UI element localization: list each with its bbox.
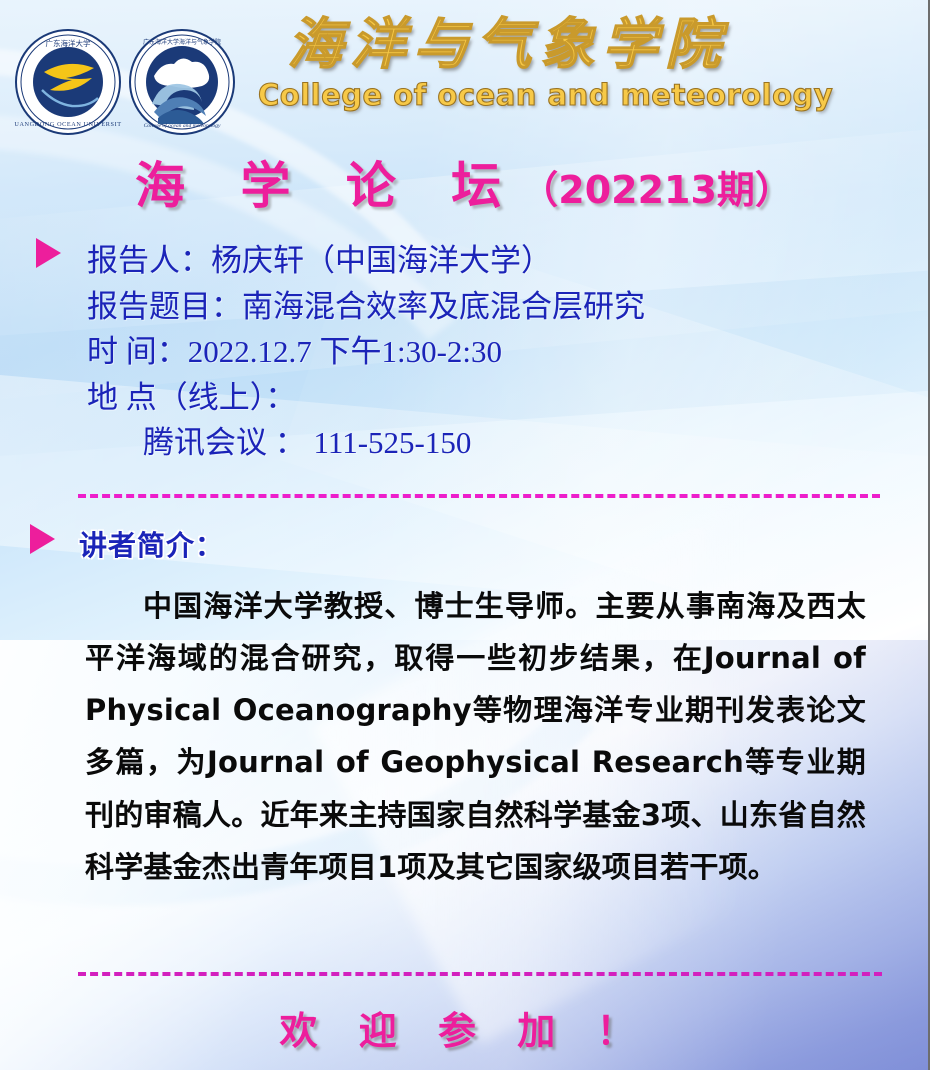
svg-text:广东海洋大学: 广东海洋大学 <box>46 38 91 48</box>
svg-text:College of ocean and meteorolo: College of ocean and meteorology <box>144 122 221 129</box>
forum-name: 海 学 论 坛 <box>135 157 520 215</box>
speaker-line: 报告人：杨庆轩（中国海洋大学） <box>87 238 645 284</box>
logo-group: 广东海洋大学 GUANGDONG OCEAN UNIVERSITY 1935 广… <box>14 28 236 136</box>
page-title: 海 学 论 坛（202213期） <box>0 146 928 218</box>
divider-bottom <box>78 972 882 976</box>
forum-issue: （202213期） <box>520 168 793 212</box>
svg-text:1935: 1935 <box>63 112 74 118</box>
event-info-block: 报告人：杨庆轩（中国海洋大学） 报告题目：南海混合效率及底混合层研究 时 间：2… <box>0 238 928 466</box>
event-info-lines: 报告人：杨庆轩（中国海洋大学） 报告题目：南海混合效率及底混合层研究 时 间：2… <box>87 238 645 466</box>
welcome-text: 欢 迎 参 加 ！ <box>0 1000 928 1055</box>
college-name-english: College of ocean and meteorology <box>258 78 758 112</box>
guangdong-ocean-university-logo: 广东海洋大学 GUANGDONG OCEAN UNIVERSITY 1935 <box>14 28 122 136</box>
triangle-bullet-icon <box>36 238 61 268</box>
college-name-chinese: 海洋与气象学院 <box>258 16 758 74</box>
svg-text:GUANGDONG OCEAN UNIVERSITY: GUANGDONG OCEAN UNIVERSITY <box>14 121 122 128</box>
divider-top <box>78 494 880 498</box>
seminar-poster: 广东海洋大学 GUANGDONG OCEAN UNIVERSITY 1935 广… <box>0 0 930 1070</box>
meeting-id-line: 腾讯会议 ： 111-525-150 <box>87 420 645 466</box>
header-title-block: 海洋与气象学院 College of ocean and meteorology <box>258 16 758 112</box>
topic-line: 报告题目：南海混合效率及底混合层研究 <box>87 284 645 330</box>
bio-heading-label: 讲者简介： <box>79 524 224 564</box>
bio-heading-row: 讲者简介： <box>0 524 928 564</box>
svg-text:广东海洋大学海洋与气象学院: 广东海洋大学海洋与气象学院 <box>143 38 221 46</box>
triangle-bullet-icon-bio <box>30 524 55 554</box>
college-of-ocean-and-meteorology-logo: 广东海洋大学海洋与气象学院 College of ocean and meteo… <box>128 28 236 136</box>
location-line: 地 点（线上）： <box>87 375 645 421</box>
time-line: 时 间：2022.12.7 下午1:30-2:30 <box>87 329 645 375</box>
poster-header: 广东海洋大学 GUANGDONG OCEAN UNIVERSITY 1935 广… <box>0 0 928 140</box>
bio-text: 中国海洋大学教授、博士生导师。主要从事南海及西太平洋海域的混合研究，取得一些初步… <box>85 580 866 893</box>
